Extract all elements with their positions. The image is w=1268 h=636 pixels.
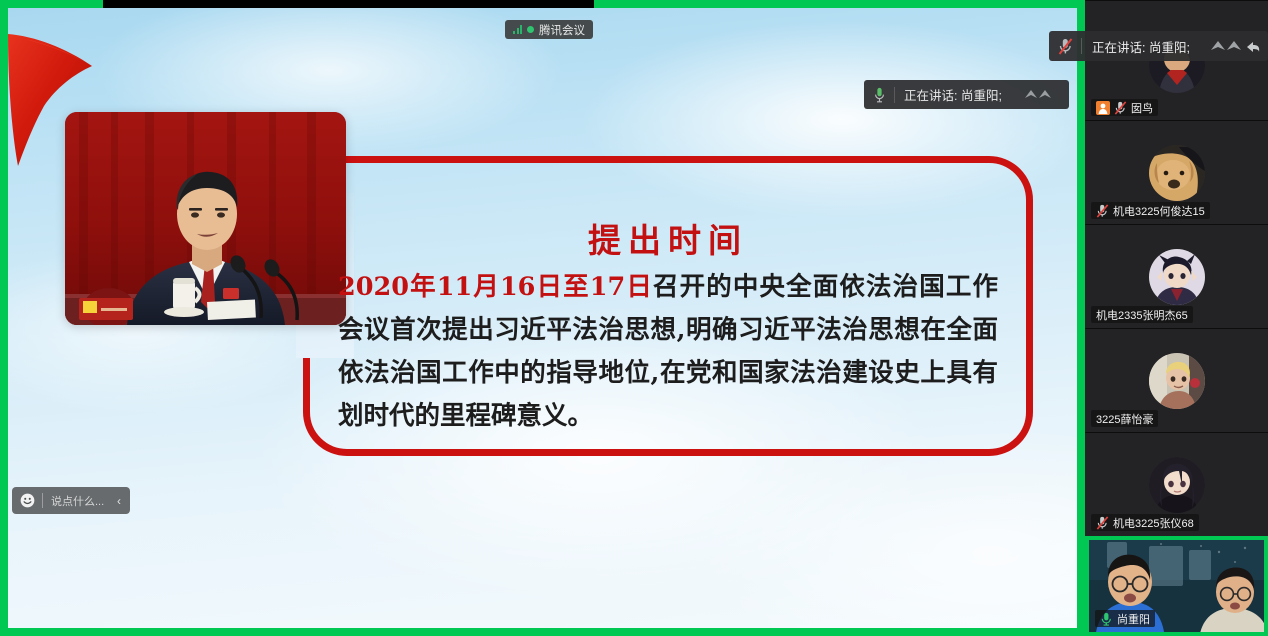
screen-share-border-right (1077, 0, 1085, 636)
app-title-badge: 腾讯会议 (505, 20, 593, 39)
arrow-back-icon (1209, 38, 1261, 55)
participant-name-chip: 机电2335张明杰65 (1091, 306, 1193, 323)
microphone-muted-icon (1096, 516, 1109, 530)
participant-name-chip: 机电3225何俊达15 (1091, 202, 1210, 219)
participant-tile[interactable]: 机电2335张明杰65 (1085, 224, 1268, 328)
participant-tile[interactable]: 3225薛怡豪 (1085, 328, 1268, 432)
participant-name: 囡鸟 (1131, 100, 1153, 116)
chat-input-bar[interactable]: 说点什么... ‹ (12, 487, 130, 514)
avatar (1149, 353, 1205, 409)
chat-placeholder[interactable]: 说点什么... (43, 493, 108, 509)
speaking-label: 正在讲话: 尚重阳; (895, 85, 1023, 104)
participant-name: 3225薛怡豪 (1096, 411, 1153, 427)
screen-share-border-left (0, 0, 8, 636)
participant-name: 尚重阳 (1117, 611, 1150, 627)
screen-share-border-bottom-left (0, 628, 103, 636)
screen-share-border-top-left (0, 0, 103, 8)
rail-toolbar-icons[interactable] (1209, 38, 1268, 55)
status-dot-icon (527, 26, 534, 33)
participant-name-chip: 3225薛怡豪 (1091, 410, 1158, 427)
speaker-photo (65, 112, 346, 325)
chevron-left-icon[interactable]: ‹ (108, 494, 130, 508)
slide-body-highlight: 2020年11月16日至17日 (338, 272, 653, 302)
speaking-indicator-overlay: 正在讲话: 尚重阳; (864, 80, 1069, 109)
participant-name: 机电3225何俊达15 (1113, 203, 1205, 219)
participant-name-chip: 尚重阳 (1095, 610, 1155, 627)
participant-name: 机电2335张明杰65 (1096, 307, 1188, 323)
app-title-label: 腾讯会议 (539, 22, 585, 38)
signal-strength-icon (513, 25, 522, 34)
participant-name: 机电3225张仪68 (1113, 515, 1194, 531)
participant-tile-active-speaker[interactable]: 尚重阳 (1085, 536, 1268, 636)
microphone-muted-icon[interactable] (1049, 38, 1081, 55)
slide-title: 提出时间 (428, 214, 908, 262)
shared-screen-area: 提出时间 2020年11月16日至17日召开的中央全面依法治国工作会议首次提出习… (0, 0, 1085, 636)
avatar (1149, 457, 1205, 513)
slide-body-text: 2020年11月16日至17日召开的中央全面依法治国工作会议首次提出习近平法治思… (338, 266, 998, 438)
rail-speaking-label: 正在讲话: 尚重阳; (1082, 37, 1209, 56)
microphone-muted-icon (1114, 101, 1127, 115)
participant-tile[interactable]: 机电3225张仪68 (1085, 432, 1268, 536)
avatar (1149, 145, 1205, 201)
participant-name-chip: 机电3225张仪68 (1091, 514, 1199, 531)
tencent-meeting-window: 提出时间 2020年11月16日至17日召开的中央全面依法治国工作会议首次提出习… (0, 0, 1268, 636)
speaking-wave-icons (1023, 87, 1069, 103)
host-badge-icon (1096, 101, 1110, 115)
emoji-smiley-icon[interactable] (12, 493, 42, 508)
participant-name-chip: 囡鸟 (1091, 99, 1158, 116)
screen-share-border-top-right (594, 0, 1085, 8)
rail-speaking-toolbar[interactable]: 正在讲话: 尚重阳; (1049, 31, 1268, 61)
microphone-muted-icon (1096, 204, 1109, 218)
screen-share-border-bottom-right (103, 628, 1085, 636)
participant-tile[interactable]: 机电3225何俊达15 (1085, 120, 1268, 224)
microphone-active-icon (1100, 612, 1113, 626)
avatar (1149, 249, 1205, 305)
microphone-icon (864, 87, 894, 103)
